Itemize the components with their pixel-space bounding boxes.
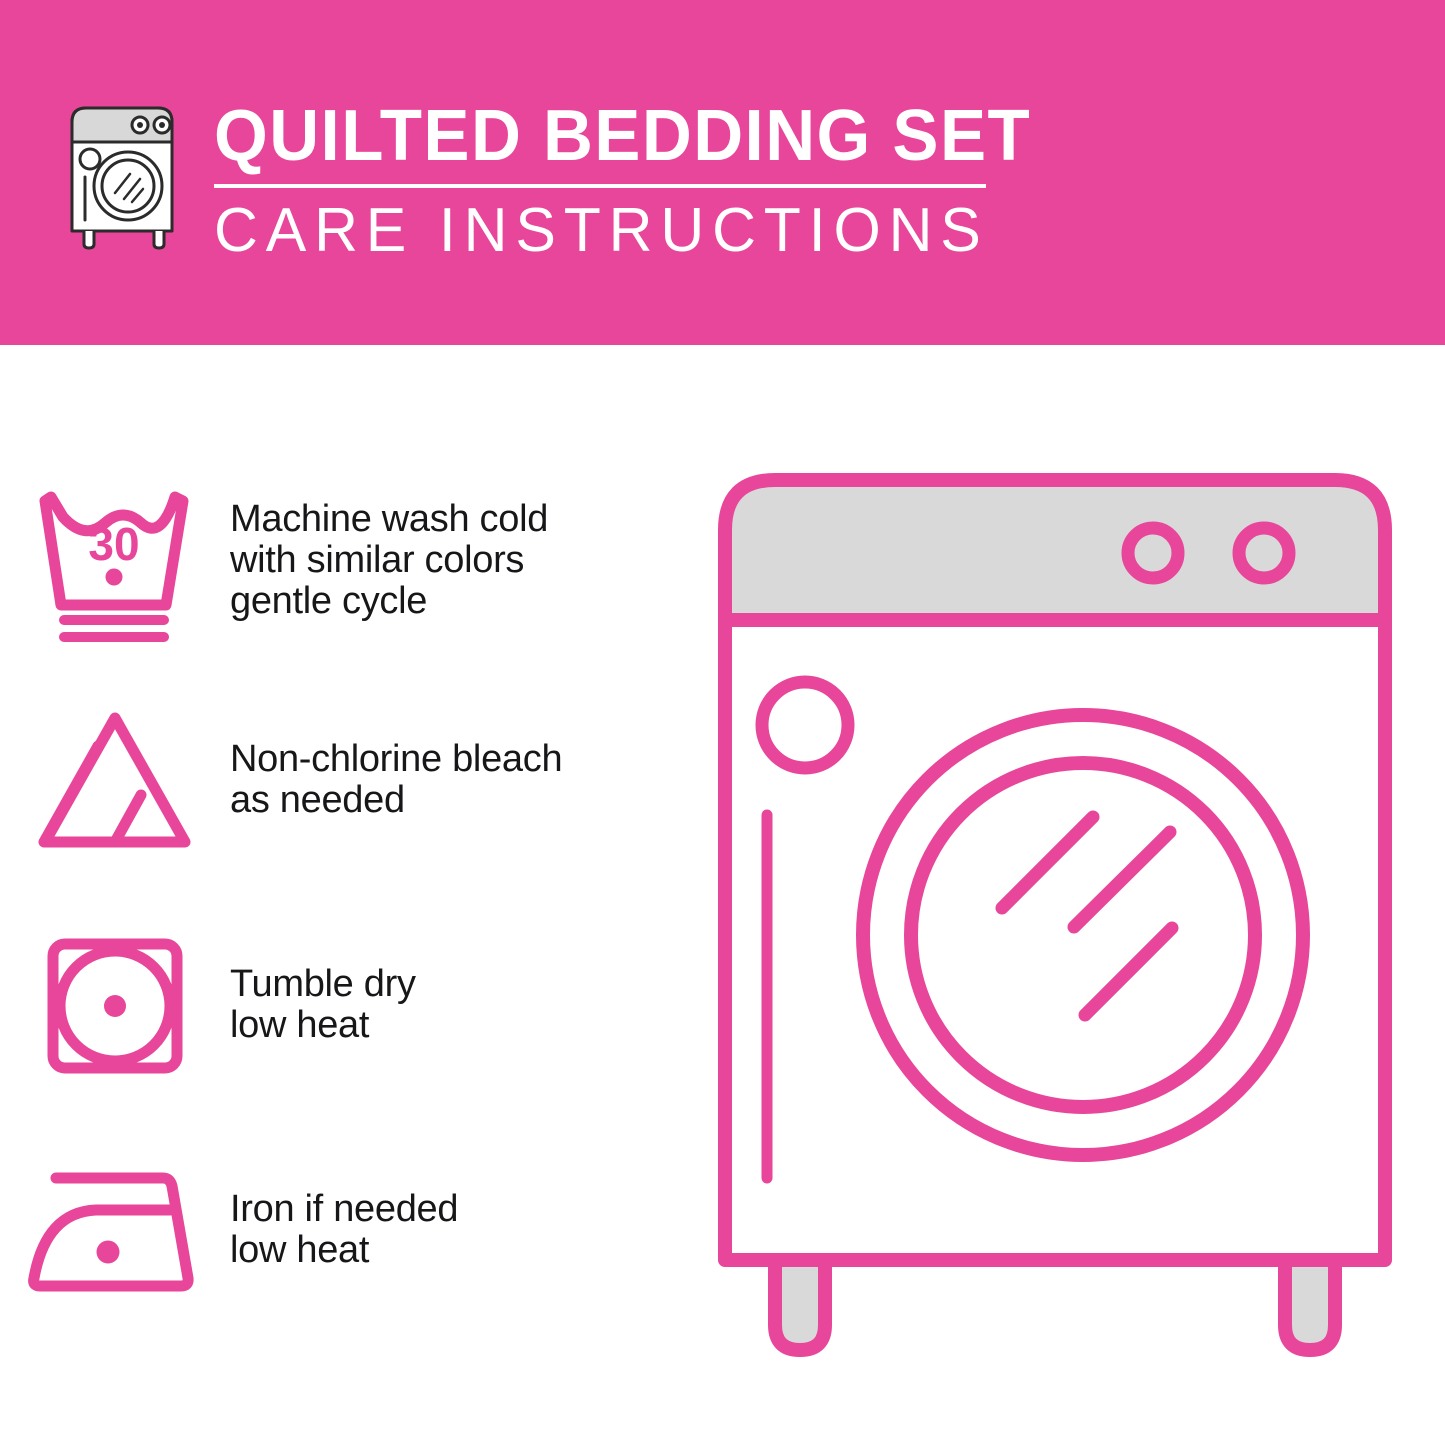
header-text-block: QUILTED BEDDING SET CARE INSTRUCTIONS — [214, 98, 989, 266]
care-symbol-slot — [0, 700, 230, 860]
page-title: QUILTED BEDDING SET — [214, 98, 958, 174]
care-label-machine-wash: Machine wash cold with similar colors ge… — [230, 499, 548, 622]
care-item-tumble-dry: Tumble dry low heat — [0, 910, 700, 1100]
door-reflection-lines — [1002, 817, 1172, 1015]
washing-machine-icon — [58, 100, 186, 250]
title-divider — [214, 184, 986, 188]
care-label-tumble-dry: Tumble dry low heat — [230, 964, 416, 1046]
care-label-bleach: Non-chlorine bleach as needed — [230, 739, 562, 821]
large-washing-machine-illustration — [705, 460, 1405, 1380]
non-chlorine-bleach-symbol — [28, 700, 203, 860]
page-subtitle: CARE INSTRUCTIONS — [214, 196, 974, 266]
machine-wash-30-gentle-symbol: 30 — [23, 475, 208, 645]
iron-low-heat-symbol — [18, 1160, 213, 1300]
care-symbol-slot: 30 — [0, 475, 230, 645]
care-symbol-slot — [0, 928, 230, 1083]
leg-left — [775, 1260, 825, 1350]
care-instructions-infographic: QUILTED BEDDING SET CARE INSTRUCTIONS 30… — [0, 0, 1445, 1445]
small-dial[interactable] — [762, 682, 848, 768]
care-item-bleach: Non-chlorine bleach as needed — [0, 685, 700, 875]
header-banner: QUILTED BEDDING SET CARE INSTRUCTIONS — [0, 0, 1445, 345]
care-instruction-list: 30 Machine wash cold with similar colors… — [0, 345, 700, 1445]
leg-right — [1285, 1260, 1335, 1350]
care-symbol-slot — [0, 1160, 230, 1300]
drum-door-inner-ring — [911, 763, 1255, 1107]
drum-door-outer-ring — [863, 715, 1303, 1155]
care-item-machine-wash: 30 Machine wash cold with similar colors… — [0, 465, 700, 655]
tumble-dry-low-symbol — [35, 928, 195, 1083]
care-item-iron: Iron if needed low heat — [0, 1135, 700, 1325]
care-label-iron: Iron if needed low heat — [230, 1189, 458, 1271]
header-content: QUILTED BEDDING SET CARE INSTRUCTIONS — [58, 98, 989, 266]
svg-text:30: 30 — [88, 518, 139, 570]
